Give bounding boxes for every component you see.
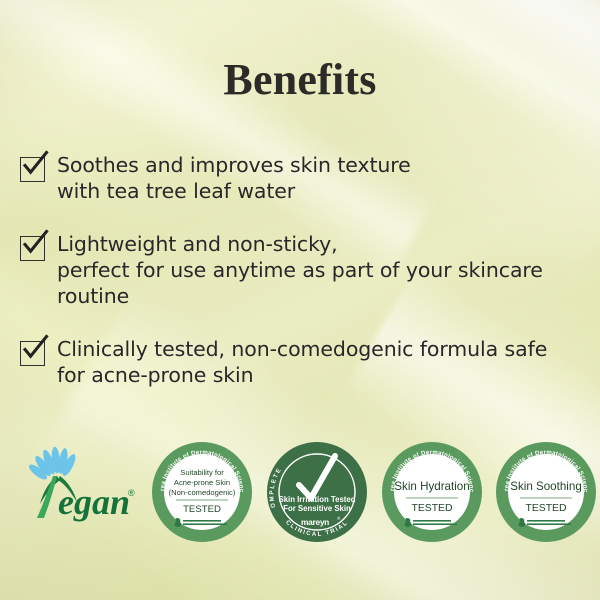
product-benefits-graphic: Benefits Soothes and improves skin textu…: [0, 0, 600, 600]
vegan-certification-logo: egan ®: [16, 446, 144, 530]
badge-line: Skin Hydration: [394, 480, 469, 493]
badge-brand: mareyn: [301, 517, 329, 527]
badge-line: Suitability for: [180, 468, 224, 477]
registered-mark: ®: [128, 488, 135, 498]
checkbox-checked-icon: [20, 157, 45, 182]
badge-skin-soothing: Korea Institute of Dermatological Scienc…: [494, 440, 598, 544]
list-item: Lightweight and non-sticky, perfect for …: [20, 231, 570, 309]
list-item: Soothes and improves skin texture with t…: [20, 152, 570, 204]
page-title: Benefits: [0, 54, 600, 105]
checkbox-checked-icon: [20, 236, 45, 261]
list-item-label: Soothes and improves skin texture with t…: [57, 152, 411, 204]
badge-line: Skin Irritation Tested: [279, 495, 356, 504]
certification-badges: Korea Institute of Dermatological Scienc…: [150, 440, 598, 552]
benefits-list: Soothes and improves skin texture with t…: [20, 152, 570, 415]
list-item: Clinically tested, non-comedogenic formu…: [20, 336, 570, 388]
badge-line: Acne-prone Skin: [174, 478, 230, 487]
badge-line: For Sensitive Skin: [283, 504, 351, 513]
badge-status: TESTED: [412, 503, 453, 514]
badge-line: (Non-comedogenic): [169, 488, 236, 497]
list-item-label: Lightweight and non-sticky, perfect for …: [57, 231, 570, 309]
badge-status: TESTED: [183, 504, 221, 515]
badge-acne-prone-suitability: Korea Institute of Dermatological Scienc…: [150, 440, 254, 544]
badge-skin-hydration: Korea Institute of Dermatological Scienc…: [380, 440, 484, 544]
badge-skin-irritation-tested: COMPLETED CLINICAL TRIAL Skin Irritation…: [265, 440, 369, 544]
checkbox-checked-icon: [20, 341, 45, 366]
badge-line: Skin Soothing: [510, 480, 582, 493]
flower-petals-icon: [27, 446, 78, 482]
badge-status: TESTED: [526, 503, 567, 514]
vegan-wordmark: egan: [58, 482, 130, 522]
list-item-label: Clinically tested, non-comedogenic formu…: [57, 336, 547, 388]
